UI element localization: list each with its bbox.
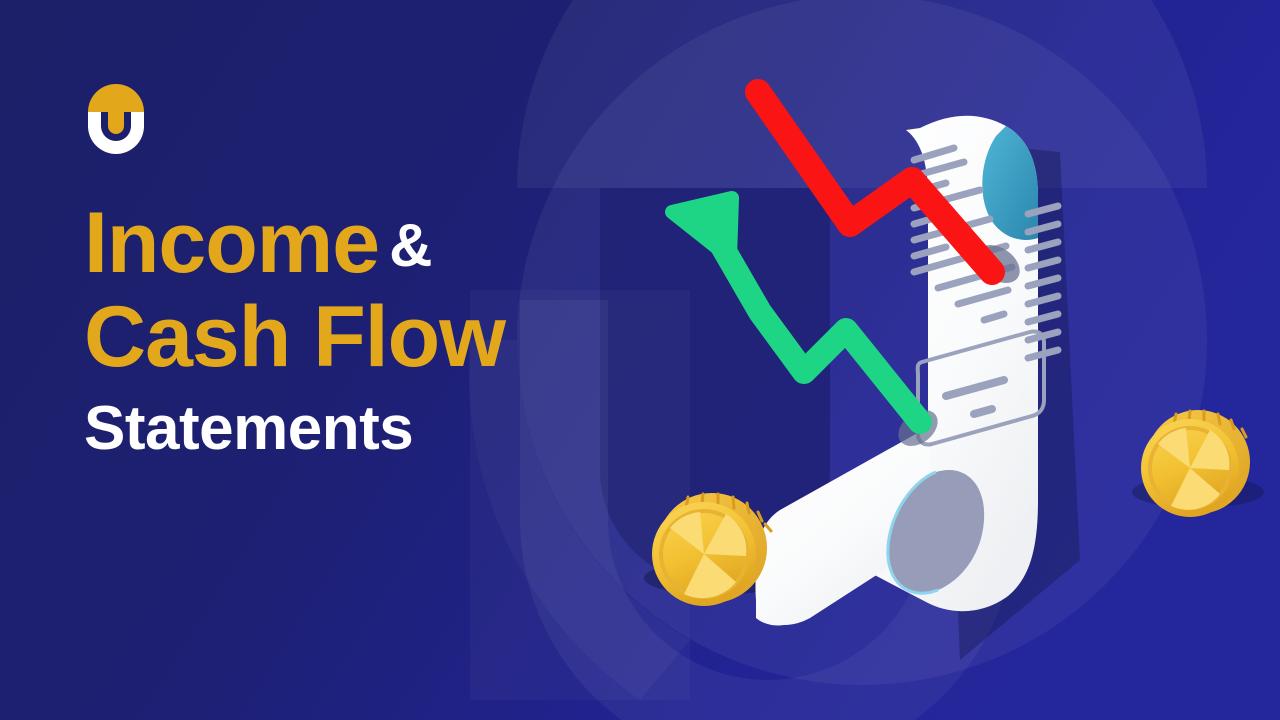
u-mark-logo-icon	[80, 82, 152, 154]
headline-word-income: Income	[84, 195, 379, 291]
headline-line-1: Income&	[84, 200, 704, 288]
brand-logo[interactable]	[80, 82, 152, 154]
slide-canvas: Income& Cash Flow Statements	[0, 0, 1280, 720]
headline-ampersand: &	[389, 212, 431, 279]
headline-line-3: Statements	[84, 386, 704, 472]
headline-line-2: Cash Flow	[84, 288, 704, 386]
headline-block: Income& Cash Flow Statements	[84, 200, 704, 471]
